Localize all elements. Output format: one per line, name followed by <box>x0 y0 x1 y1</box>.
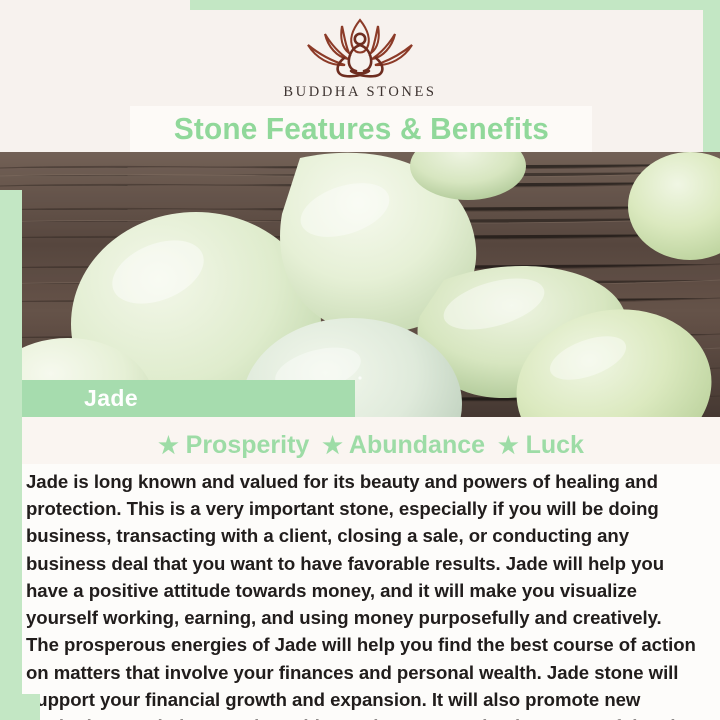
brand-name: BUDDHA STONES <box>283 84 436 101</box>
page-title: Stone Features & Benefits <box>173 111 548 147</box>
page-title-bar: Stone Features & Benefits <box>130 106 592 152</box>
content-section: ★ Prosperity ★ Abundance ★ Luck Jade is … <box>22 417 720 720</box>
star-icon: ★ <box>498 432 519 458</box>
keyword-label-1: Abundance <box>349 431 485 459</box>
jade-tumbled-stones-photo <box>0 152 720 417</box>
stone-info-card: BUDDHA STONES Stone Features & Benefits <box>0 0 720 720</box>
keyword-item-1: ★ Abundance <box>322 431 485 459</box>
stone-caption-band: Jade <box>22 380 355 417</box>
decor-band-bottom-left <box>0 694 40 720</box>
decor-band-left <box>0 190 22 720</box>
keyword-item-2: ★ Luck <box>498 431 584 459</box>
stone-description: Jade is long known and valued for its be… <box>22 464 720 720</box>
keyword-list: ★ Prosperity ★ Abundance ★ Luck <box>22 417 720 464</box>
lotus-meditation-icon <box>296 14 424 82</box>
keyword-item-0: ★ Prosperity <box>158 431 309 459</box>
star-icon: ★ <box>322 432 343 458</box>
keyword-label-0: Prosperity <box>186 431 310 459</box>
brand-logo: BUDDHA STONES <box>0 14 720 106</box>
stone-name: Jade <box>84 385 138 412</box>
star-icon: ★ <box>158 432 179 458</box>
keyword-label-2: Luck <box>526 431 584 459</box>
